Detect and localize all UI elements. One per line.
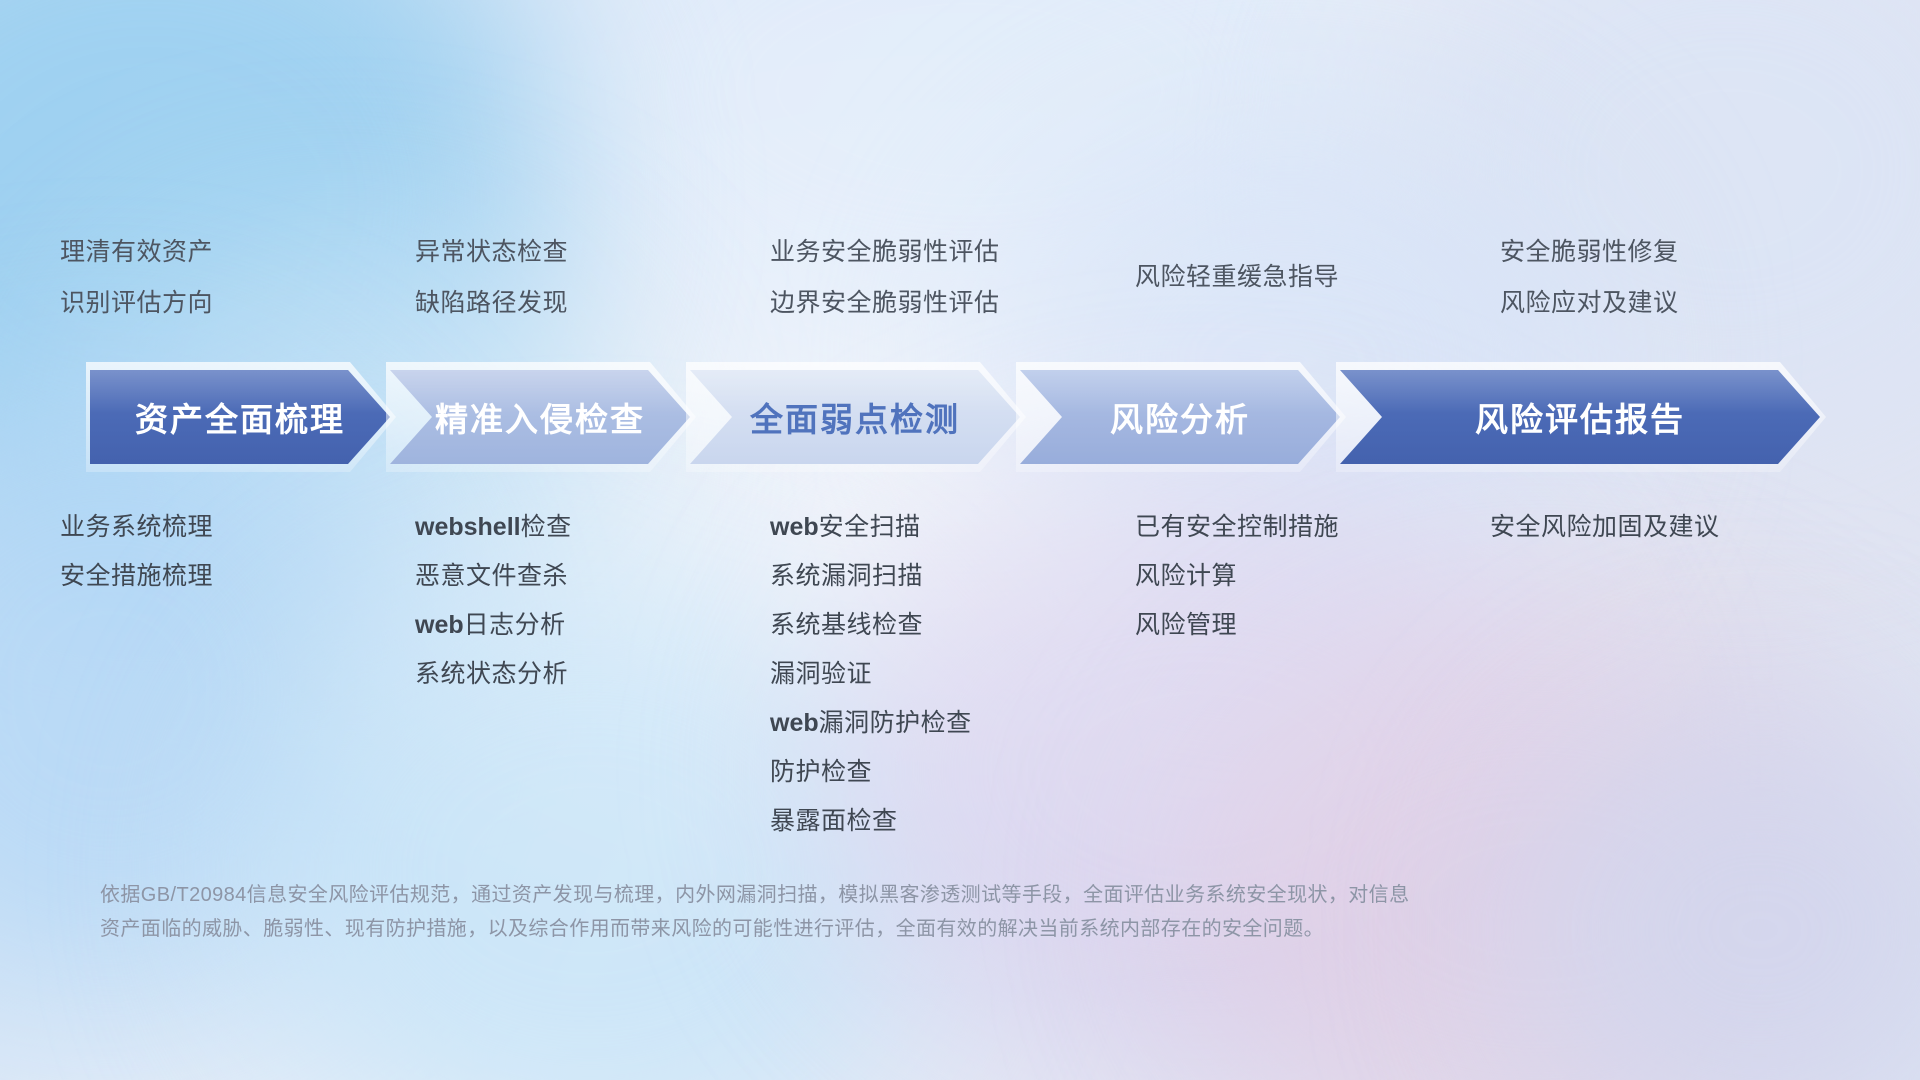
bottom-item-bold: webshell <box>415 513 521 541</box>
stage-top-items-weakness-detection: 业务安全脆弱性评估 边界安全脆弱性评估 <box>770 240 1150 342</box>
stage-arrow-label: 精准入侵检查 <box>435 393 645 441</box>
top-item: 边界安全脆弱性评估 <box>770 291 1150 316</box>
bottom-item-text: 日志分析 <box>464 611 566 639</box>
bottom-item-text: 安全风险加固及建议 <box>1490 513 1720 541</box>
bottom-item-text: 恶意文件查杀 <box>415 562 568 590</box>
top-item: 理清有效资产 <box>60 240 390 265</box>
bottom-item: 恶意文件查杀 <box>415 564 745 589</box>
bottom-item-text: 暴露面检查 <box>770 807 898 835</box>
stage-arrow-weakness-detection[interactable]: 全面弱点检测 <box>690 370 1020 464</box>
bottom-item-bold: web <box>770 513 819 541</box>
process-arrow-band: 资产全面梳理 精准入侵检查 全面弱点检测 风险分析 风险评估报告 <box>0 362 1920 472</box>
bottom-item-text: 安全措施梳理 <box>60 562 213 590</box>
top-item: 风险应对及建议 <box>1500 291 1860 316</box>
footer-line: 依据GB/T20984信息安全风险评估规范，通过资产发现与梳理，内外网漏洞扫描，… <box>100 878 1620 912</box>
bottom-item-text: 安全扫描 <box>819 513 921 541</box>
stage-arrow-asset-inventory[interactable]: 资产全面梳理 <box>90 370 390 464</box>
bottom-item: 已有安全控制措施 <box>1135 515 1495 540</box>
stage-arrow-intrusion-check[interactable]: 精准入侵检查 <box>390 370 690 464</box>
bottom-item-text: 已有安全控制措施 <box>1135 513 1339 541</box>
bottom-item: 防护检查 <box>770 760 1150 785</box>
bottom-item: web安全扫描 <box>770 515 1150 540</box>
bottom-item-bold: web <box>415 611 464 639</box>
stage-arrow-label: 全面弱点检测 <box>750 393 960 441</box>
bottom-item: web日志分析 <box>415 613 745 638</box>
stage-top-items-risk-report: 安全脆弱性修复 风险应对及建议 <box>1500 240 1860 342</box>
stage-arrow-risk-analysis[interactable]: 风险分析 <box>1020 370 1340 464</box>
top-item: 异常状态检查 <box>415 240 745 265</box>
bottom-item: 暴露面检查 <box>770 809 1150 834</box>
bottom-item: 系统漏洞扫描 <box>770 564 1150 589</box>
top-item: 缺陷路径发现 <box>415 291 745 316</box>
stage-arrow-label: 资产全面梳理 <box>135 393 345 441</box>
stage-arrow-label: 风险评估报告 <box>1475 393 1685 441</box>
footer-line: 资产面临的威胁、脆弱性、现有防护措施，以及综合作用而带来风险的可能性进行评估，全… <box>100 912 1620 946</box>
bottom-item-bold: web <box>770 709 819 737</box>
bottom-item: web漏洞防护检查 <box>770 711 1150 736</box>
bottom-item-text: 检查 <box>521 513 572 541</box>
bottom-item: 业务系统梳理 <box>60 515 390 540</box>
bottom-item-text: 漏洞防护检查 <box>819 709 972 737</box>
bottom-item-text: 防护检查 <box>770 758 872 786</box>
top-item: 安全脆弱性修复 <box>1500 240 1860 265</box>
stage-top-items-asset-inventory: 理清有效资产 识别评估方向 <box>60 240 390 342</box>
top-item: 风险轻重缓急指导 <box>1135 265 1495 290</box>
stage-bottom-items-asset-inventory: 业务系统梳理 安全措施梳理 <box>60 515 390 613</box>
bottom-item-text: 系统漏洞扫描 <box>770 562 923 590</box>
bottom-item: 系统基线检查 <box>770 613 1150 638</box>
stage-arrow-risk-report[interactable]: 风险评估报告 <box>1340 370 1820 464</box>
bottom-item-text: 系统基线检查 <box>770 611 923 639</box>
footer-description: 依据GB/T20984信息安全风险评估规范，通过资产发现与梳理，内外网漏洞扫描，… <box>100 878 1620 946</box>
top-item: 识别评估方向 <box>60 291 390 316</box>
bottom-item: 安全措施梳理 <box>60 564 390 589</box>
bottom-item: 漏洞验证 <box>770 662 1150 687</box>
bottom-item: 风险管理 <box>1135 613 1495 638</box>
bottom-item: 系统状态分析 <box>415 662 745 687</box>
bottom-item-text: 漏洞验证 <box>770 660 872 688</box>
bottom-item: 安全风险加固及建议 <box>1490 515 1870 540</box>
bottom-item: webshell检查 <box>415 515 745 540</box>
stage-bottom-items-risk-analysis: 已有安全控制措施 风险计算 风险管理 <box>1135 515 1495 662</box>
stage-top-items-intrusion-check: 异常状态检查 缺陷路径发现 <box>415 240 745 342</box>
bottom-item-text: 风险管理 <box>1135 611 1237 639</box>
stage-bottom-items-intrusion-check: webshell检查 恶意文件查杀 web日志分析 系统状态分析 <box>415 515 745 711</box>
top-item: 业务安全脆弱性评估 <box>770 240 1150 265</box>
stage-arrow-label: 风险分析 <box>1110 393 1250 441</box>
bottom-item-text: 系统状态分析 <box>415 660 568 688</box>
stage-bottom-items-weakness-detection: web安全扫描 系统漏洞扫描 系统基线检查 漏洞验证 web漏洞防护检查 防护检… <box>770 515 1150 858</box>
bottom-item-text: 风险计算 <box>1135 562 1237 590</box>
bottom-item: 风险计算 <box>1135 564 1495 589</box>
stage-top-items-risk-analysis: 风险轻重缓急指导 <box>1135 265 1495 316</box>
stage-bottom-items-risk-report: 安全风险加固及建议 <box>1490 515 1870 564</box>
bottom-item-text: 业务系统梳理 <box>60 513 213 541</box>
